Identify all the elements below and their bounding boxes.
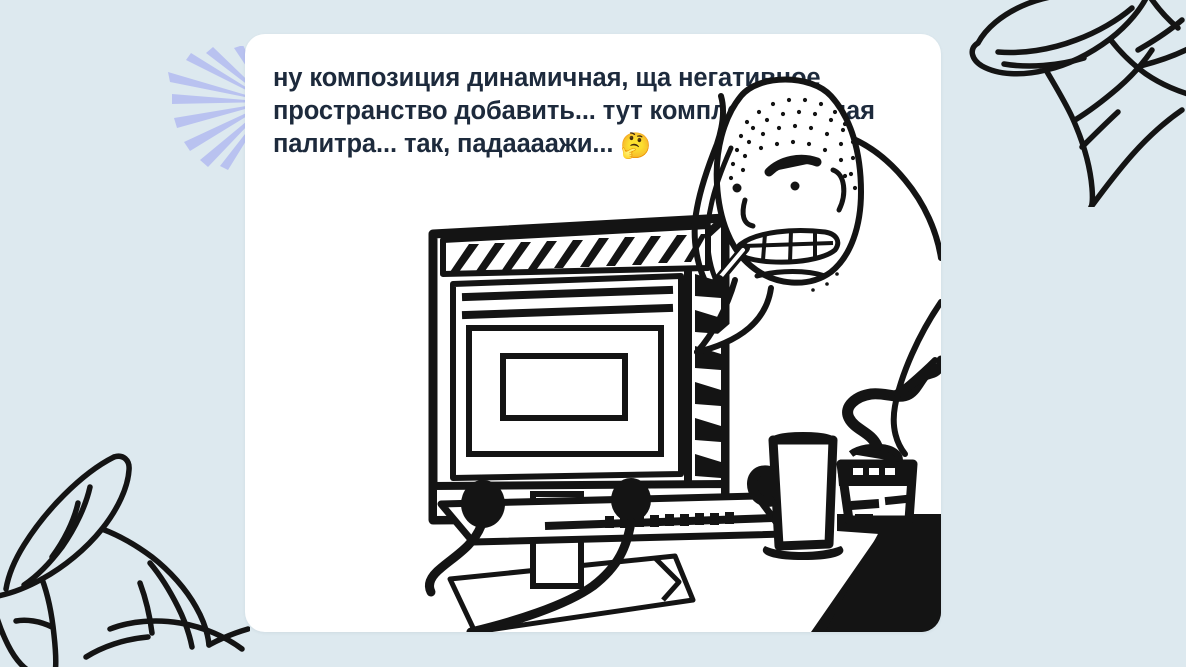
content-card: ну композиция динамичная, ща негативное … (245, 34, 941, 632)
cable-plug-right (611, 478, 651, 522)
leaf-bottom-left-icon (0, 443, 250, 667)
coffee-mug-handle (752, 470, 775, 501)
cable-plug-left (461, 480, 505, 528)
screen-canvas-inner (503, 356, 625, 418)
comic-illustration (245, 34, 941, 632)
leaf-top-right-icon (942, 0, 1186, 207)
slide-canvas: ну композиция динамичная, ща негативное … (0, 0, 1186, 667)
man-eye-left (733, 184, 742, 193)
man-eye-right (791, 182, 800, 191)
ashtray-butts (853, 468, 895, 475)
coffee-mug-body (773, 440, 833, 546)
desk-wedge-lower (825, 532, 941, 632)
